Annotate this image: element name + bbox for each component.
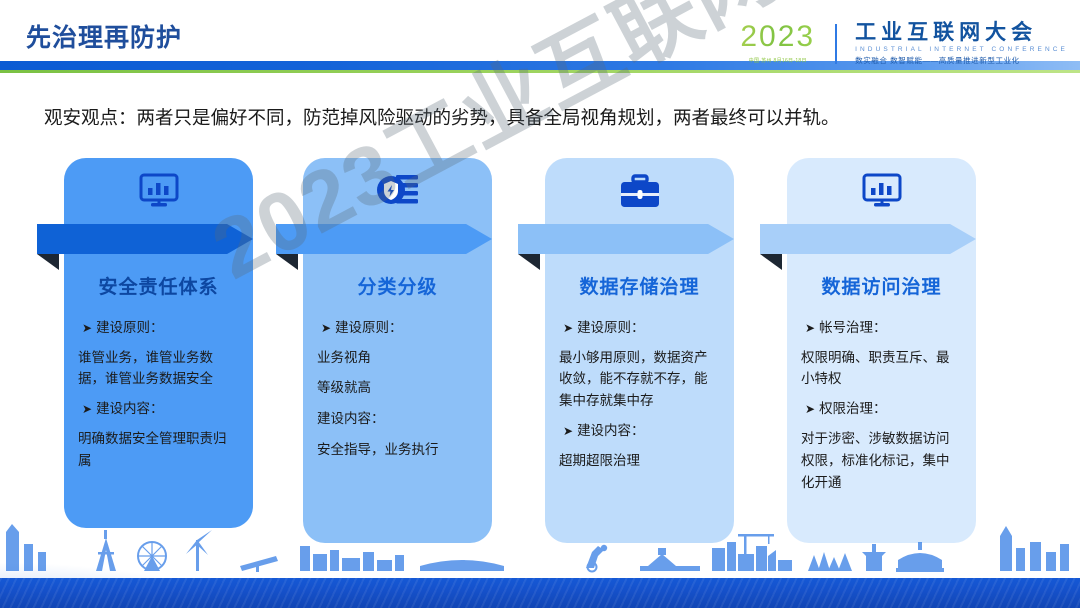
banner-arrow-shape — [37, 224, 253, 254]
card-body: 分类分级➤建设原则：业务视角等级就高建设内容：安全指导，业务执行 — [303, 158, 492, 543]
bullet-arrow-icon: ➤ — [82, 321, 92, 335]
card-icon-slot — [64, 158, 253, 226]
card-bullet-text: 建设原则： — [577, 320, 645, 335]
bullet-arrow-icon: ➤ — [563, 321, 573, 335]
card-bullet-heading: ➤帐号治理： — [805, 318, 962, 338]
card-group: 安全责任体系➤建设原则：谁管业务，谁管业务数据，谁管业务数据安全➤建设内容：明确… — [0, 158, 1080, 558]
logo-subtitle: 数实融合 数智赋能——高质量推进新型工业化 — [855, 55, 1068, 66]
card-3[interactable]: 数据存储治理➤建设原则：最小够用原则，数据资产收敛，能不存就不存，能集中存就集中… — [545, 158, 734, 543]
banner-fold-shadow — [37, 254, 59, 270]
card-bullet-text: 权限治理： — [819, 401, 887, 416]
card-body: 数据存储治理➤建设原则：最小够用原则，数据资产收敛，能不存就不存，能集中存就集中… — [545, 158, 734, 543]
bullet-arrow-icon: ➤ — [805, 402, 815, 416]
card-banner-arrow — [276, 224, 492, 264]
logo-divider — [835, 24, 837, 64]
card-banner-arrow — [760, 224, 976, 264]
header-divider-green — [0, 70, 1080, 73]
card-content: ➤建设原则：谁管业务，谁管业务数据，谁管业务数据安全➤建设内容：明确数据安全管理… — [64, 299, 253, 503]
logo-english-title: INDUSTRIAL INTERNET CONFERENCE — [855, 46, 1068, 53]
lead-paragraph: 观安观点：两者只是偏好不同，防范掉风险驱动的劣势，具备全局视角规划，两者最终可以… — [44, 104, 1054, 132]
card-bullet-heading: ➤建设内容： — [563, 421, 720, 441]
card-paragraph: 明确数据安全管理职责归属 — [78, 428, 239, 472]
logo-text-block: 工业互联网大会 INDUSTRIAL INTERNET CONFERENCE 数… — [847, 22, 1068, 66]
shield-database-icon — [376, 173, 420, 211]
card-paragraph: 权限明确、职责互斥、最小特权 — [801, 347, 962, 391]
card-bullet-text: 帐号治理： — [819, 320, 887, 335]
bullet-arrow-icon: ➤ — [321, 321, 331, 335]
logo-date: 中国·苏州 8月16日-18日 — [740, 57, 815, 64]
card-paragraph: 业务视角 — [317, 347, 478, 369]
card-bullet-text: 建设原则： — [96, 320, 164, 335]
slide-canvas: 先治理再防护 2023 中国·苏州 8月16日-18日 工业互联网大会 INDU… — [0, 0, 1080, 608]
bullet-arrow-icon: ➤ — [805, 321, 815, 335]
card-2[interactable]: 分类分级➤建设原则：业务视角等级就高建设内容：安全指导，业务执行 — [303, 158, 492, 543]
card-paragraph: 对于涉密、涉敏数据访问权限，标准化标记，集中化开通 — [801, 428, 962, 494]
card-title: 分类分级 — [303, 272, 492, 299]
logo-main-title: 工业互联网大会 — [855, 22, 1068, 44]
card-paragraph: 最小够用原则，数据资产收敛，能不存就不存，能集中存就集中存 — [559, 347, 720, 413]
card-title: 数据存储治理 — [545, 272, 734, 299]
bottom-band — [0, 578, 1080, 608]
card-bullet-heading: ➤建设原则： — [321, 318, 478, 338]
card-bullet-text: 建设原则： — [335, 320, 403, 335]
card-1[interactable]: 安全责任体系➤建设原则：谁管业务，谁管业务数据，谁管业务数据安全➤建设内容：明确… — [64, 158, 253, 528]
bullet-arrow-icon: ➤ — [82, 402, 92, 416]
card-body: 数据访问治理➤帐号治理：权限明确、职责互斥、最小特权➤权限治理：对于涉密、涉敏数… — [787, 158, 976, 543]
monitor-chart-icon — [139, 173, 179, 211]
card-content: ➤建设原则：最小够用原则，数据资产收敛，能不存就不存，能集中存就集中存➤建设内容… — [545, 299, 734, 503]
banner-arrow-shape — [276, 224, 492, 254]
card-icon-slot — [787, 158, 976, 226]
card-paragraph: 建设内容： — [317, 408, 478, 430]
logo-year: 2023 — [740, 22, 815, 52]
card-bullet-text: 建设内容： — [577, 423, 645, 438]
card-content: ➤帐号治理：权限明确、职责互斥、最小特权➤权限治理：对于涉密、涉敏数据访问权限，… — [787, 299, 976, 524]
briefcase-icon — [619, 174, 661, 210]
banner-arrow-shape — [760, 224, 976, 254]
logo-year-block: 2023 中国·苏州 8月16日-18日 — [740, 22, 825, 64]
card-banner-arrow — [37, 224, 253, 264]
banner-fold-shadow — [518, 254, 540, 270]
card-content: ➤建设原则：业务视角等级就高建设内容：安全指导，业务执行 — [303, 299, 492, 492]
card-paragraph: 安全指导，业务执行 — [317, 439, 478, 461]
card-paragraph: 超期超限治理 — [559, 450, 720, 472]
card-title: 数据访问治理 — [787, 272, 976, 299]
card-title: 安全责任体系 — [64, 272, 253, 299]
card-paragraph: 谁管业务，谁管业务数据，谁管业务数据安全 — [78, 347, 239, 391]
card-bullet-heading: ➤建设原则： — [82, 318, 239, 338]
card-bullet-heading: ➤权限治理： — [805, 399, 962, 419]
page-title: 先治理再防护 — [26, 18, 182, 54]
card-banner-arrow — [518, 224, 734, 264]
card-bullet-heading: ➤建设原则： — [563, 318, 720, 338]
banner-arrow-shape — [518, 224, 734, 254]
card-body: 安全责任体系➤建设原则：谁管业务，谁管业务数据，谁管业务数据安全➤建设内容：明确… — [64, 158, 253, 528]
card-icon-slot — [303, 158, 492, 226]
card-4[interactable]: 数据访问治理➤帐号治理：权限明确、职责互斥、最小特权➤权限治理：对于涉密、涉敏数… — [787, 158, 976, 543]
card-icon-slot — [545, 158, 734, 226]
banner-fold-shadow — [276, 254, 298, 270]
banner-fold-shadow — [760, 254, 782, 270]
card-bullet-heading: ➤建设内容： — [82, 399, 239, 419]
bullet-arrow-icon: ➤ — [563, 424, 573, 438]
card-bullet-text: 建设内容： — [96, 401, 164, 416]
card-paragraph: 等级就高 — [317, 377, 478, 399]
monitor-chart-icon — [862, 173, 902, 211]
conference-logo: 2023 中国·苏州 8月16日-18日 工业互联网大会 INDUSTRIAL … — [740, 22, 1068, 66]
